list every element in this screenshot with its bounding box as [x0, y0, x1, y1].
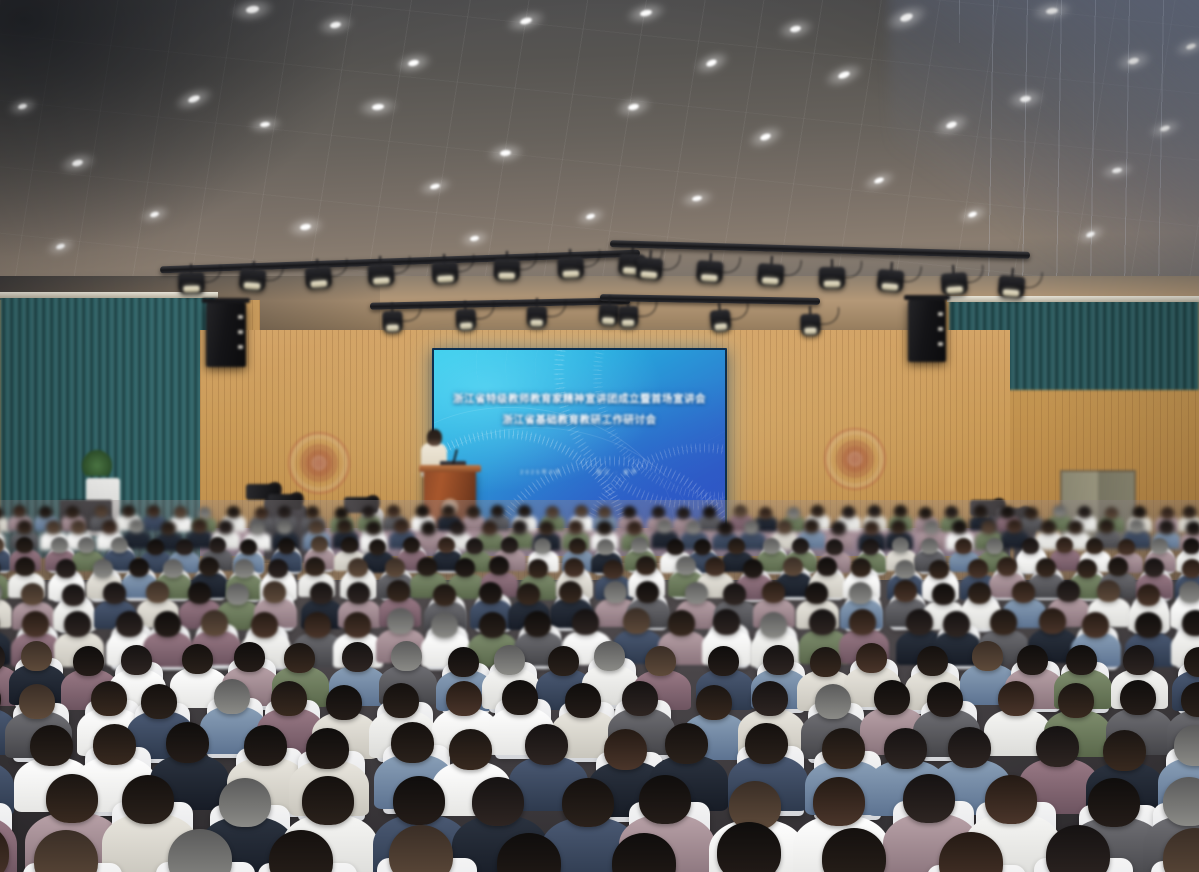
audience-head	[528, 559, 548, 578]
audience-head	[1129, 519, 1144, 533]
audience-head	[694, 539, 711, 555]
audience-head	[631, 537, 648, 553]
audience-head	[64, 611, 91, 637]
audience-head	[668, 610, 695, 636]
audience-head	[129, 558, 149, 577]
audience-head	[146, 581, 169, 603]
audience-head	[416, 505, 429, 517]
audience-head	[894, 580, 917, 602]
audience-head	[718, 521, 733, 535]
audience-head	[154, 611, 181, 637]
audience-head	[598, 506, 611, 518]
audience-head	[391, 722, 434, 763]
audience-head	[622, 681, 658, 716]
pa-led	[238, 315, 243, 319]
ceiling-downlight	[967, 211, 977, 219]
spotlight-lens	[437, 275, 453, 282]
audience-head	[467, 506, 480, 518]
audience-head	[1053, 505, 1066, 517]
audience-head	[981, 520, 996, 534]
conference-hall-photo: 浙江省特级教师教育家精神宣讲团成立暨首场宣讲会 浙江省基础教育教研工作研讨会 2…	[0, 0, 1199, 872]
audience-head	[16, 537, 33, 553]
audience-head	[182, 644, 213, 674]
ceiling-downlight	[692, 195, 703, 202]
audience-head	[903, 774, 955, 823]
ceiling-downlight	[1085, 230, 1095, 238]
audience-head	[924, 520, 939, 534]
audience-head	[448, 647, 479, 677]
audience-head	[1058, 683, 1094, 718]
spotlight-lens	[804, 328, 817, 334]
spotlight-lens	[183, 286, 199, 292]
audience-head	[997, 557, 1017, 576]
audience-head	[1017, 645, 1048, 675]
wall-emblem-left-icon	[288, 432, 350, 494]
spotlight-lens	[824, 281, 840, 287]
audience-head	[891, 520, 906, 534]
audience-head	[1161, 507, 1174, 519]
audience-head	[442, 505, 455, 517]
audience-head	[302, 776, 354, 825]
audience-head	[188, 582, 211, 604]
pa-speaker-right	[908, 300, 946, 362]
audience-head	[906, 609, 933, 635]
audience-head	[884, 728, 927, 769]
audience-head	[1137, 584, 1160, 606]
audience-head	[278, 538, 295, 554]
audience-head	[1022, 538, 1039, 554]
audience-head	[449, 729, 492, 770]
audience-head	[1108, 557, 1128, 576]
audience-head	[455, 558, 475, 577]
ceiling-downlight	[945, 120, 957, 130]
audience-head	[603, 560, 623, 579]
pa-led	[938, 312, 943, 316]
audience-head	[1183, 506, 1196, 518]
audience-head	[450, 521, 465, 535]
audience-head	[1088, 778, 1140, 827]
audience-head	[46, 520, 61, 534]
audience-head	[102, 520, 117, 534]
audience-head	[209, 537, 226, 553]
audience-head	[985, 775, 1037, 824]
audience-head	[1144, 558, 1164, 577]
audience-head	[1036, 726, 1079, 767]
audience-head	[310, 582, 333, 604]
audience-head	[1135, 612, 1162, 638]
audience-head	[394, 519, 409, 533]
audience-head	[826, 539, 843, 555]
audience-head	[116, 611, 143, 637]
audience-head	[717, 822, 781, 872]
audience-head	[161, 521, 176, 535]
audience-head	[198, 507, 211, 519]
spotlight-lens	[386, 325, 399, 331]
screen-footer-date: 2025年8月	[520, 470, 562, 476]
audience-head	[1077, 559, 1097, 578]
spotlight-lens	[882, 283, 899, 290]
pa-led	[238, 330, 243, 334]
audience-head	[517, 583, 540, 605]
audience-head	[728, 538, 745, 554]
audience-head	[141, 684, 177, 719]
audience-head	[446, 681, 482, 716]
audience-head	[677, 507, 690, 519]
audience-head	[760, 612, 787, 638]
audience-head	[362, 506, 375, 518]
audience-head	[1086, 538, 1103, 554]
audience-head	[623, 506, 636, 518]
audience-head	[945, 506, 958, 518]
audience-head	[723, 583, 746, 605]
ceiling-downlight	[639, 9, 652, 18]
audience-head	[326, 685, 362, 720]
screen-title-line-2: 浙江省基础教育教研工作研讨会	[434, 412, 725, 427]
audience-head	[1183, 538, 1199, 554]
audience-head	[337, 519, 352, 533]
audience-head	[214, 679, 250, 714]
audience-head	[30, 725, 73, 766]
audience-head	[306, 506, 319, 518]
audience-head	[73, 646, 104, 676]
audience-head	[856, 643, 887, 673]
audience-head	[271, 681, 307, 716]
ceiling-downlight	[245, 5, 259, 14]
audience-head	[539, 521, 554, 535]
audience-head	[810, 647, 841, 677]
audience-head	[525, 724, 568, 765]
ceiling-downlight	[430, 183, 441, 190]
audience-head	[685, 582, 708, 604]
spotlight-lens	[946, 286, 962, 293]
ceiling-downlight	[899, 12, 914, 23]
audience-head	[831, 521, 846, 535]
presenter-head	[427, 429, 442, 446]
audience-head	[932, 583, 955, 605]
audience-head	[1118, 539, 1135, 555]
audience-head	[842, 506, 855, 518]
spotlight-lens	[563, 270, 579, 277]
audience-head	[71, 520, 86, 534]
audience-head	[1025, 507, 1038, 519]
audience-head	[472, 777, 524, 826]
audience-head	[1182, 559, 1199, 578]
audience-head	[278, 506, 291, 518]
audience-head	[234, 642, 265, 672]
audience-head	[491, 505, 504, 517]
audience-head	[433, 584, 456, 606]
audience-head	[403, 537, 420, 553]
audience-head	[174, 506, 187, 518]
spotlight-lens	[531, 320, 543, 326]
audience-head	[572, 609, 599, 635]
ceiling-downlight	[329, 21, 341, 29]
audience-head	[39, 506, 52, 518]
ceiling-downlight	[585, 213, 595, 220]
audience-head	[815, 684, 851, 719]
audience-head	[1097, 580, 1120, 602]
audience-head	[559, 581, 582, 603]
ceiling-downlight	[1046, 7, 1059, 15]
audience-head	[943, 611, 970, 637]
audience-head	[93, 559, 113, 578]
audience-head	[13, 505, 26, 517]
audience-head	[103, 582, 126, 604]
audience-head	[1078, 506, 1091, 518]
audience-head	[366, 521, 381, 535]
ceiling-downlight	[759, 132, 771, 142]
audience-head	[972, 641, 1003, 671]
audience-head	[849, 582, 872, 604]
audience-head	[1103, 730, 1146, 771]
audience-head	[305, 557, 325, 576]
audience-head	[524, 611, 551, 637]
audience-head	[438, 537, 455, 553]
audience-head	[851, 558, 871, 577]
audience-head	[512, 520, 527, 534]
audience-head	[1068, 520, 1083, 534]
audience-head	[708, 646, 739, 676]
spotlight-lens	[701, 274, 717, 281]
audience-head	[466, 538, 483, 554]
ceiling-downlight	[470, 235, 480, 242]
audience-head	[777, 520, 792, 534]
audience-head	[17, 520, 32, 534]
ceiling-downlight	[1159, 125, 1170, 133]
audience-head	[1039, 608, 1066, 634]
audience-head	[676, 556, 696, 575]
ceiling-downlight	[627, 103, 639, 111]
ceiling-downlight	[55, 243, 65, 251]
audience-head	[745, 723, 788, 764]
audience-head	[990, 609, 1017, 635]
audience-head	[344, 612, 371, 638]
ceiling-downlight	[500, 149, 512, 156]
audience-head	[763, 645, 794, 675]
audience-head	[201, 610, 228, 636]
audience-head	[227, 506, 240, 518]
ceiling-downlight	[1185, 42, 1196, 50]
audience-head	[734, 505, 747, 517]
audience-head	[284, 643, 315, 673]
ceiling-downlight	[187, 94, 200, 104]
audience-head	[639, 775, 691, 824]
audience-head	[1174, 725, 1199, 766]
audience-head	[391, 641, 422, 671]
audience-head	[623, 608, 650, 634]
audience-head	[752, 681, 788, 716]
ceiling-downlight	[300, 223, 312, 231]
audience-head	[1066, 645, 1097, 675]
spotlight-lens	[622, 320, 634, 326]
audience-head	[78, 537, 95, 553]
audience-head	[604, 581, 627, 603]
audience-head	[667, 539, 684, 555]
audience-head	[927, 682, 963, 717]
ceiling-downlight	[873, 176, 884, 184]
spotlight-lens	[244, 283, 261, 290]
audience-head	[895, 560, 915, 579]
audience-head	[518, 505, 531, 517]
audience-head	[597, 521, 612, 535]
audience-head	[705, 557, 725, 576]
audience-head	[1123, 645, 1154, 675]
audience-head	[998, 681, 1034, 716]
ceiling-downlight	[789, 25, 801, 33]
audience-head	[1057, 580, 1080, 602]
wall-emblem-right-icon	[824, 428, 886, 490]
audience-head	[1120, 680, 1156, 715]
audience-head	[1041, 520, 1056, 534]
audience-head	[594, 641, 625, 671]
audience-head	[387, 505, 400, 517]
audience-head	[489, 556, 509, 575]
audience-head	[46, 774, 98, 823]
audience-head	[986, 538, 1003, 554]
audience-head	[479, 612, 506, 638]
audience-head	[218, 520, 233, 534]
audience-head	[817, 557, 837, 576]
audience-head	[805, 582, 828, 604]
audience-head	[1012, 581, 1035, 603]
audience-head	[417, 557, 437, 576]
audience-head	[335, 507, 348, 519]
audience-head	[804, 519, 819, 533]
audience-head	[111, 537, 128, 553]
audience-head	[1179, 581, 1199, 603]
audience-head	[864, 521, 879, 535]
audience-head	[501, 537, 518, 553]
ceiling-downlight	[705, 58, 717, 68]
audience-head	[121, 645, 152, 675]
audience-head	[713, 609, 740, 635]
audience-head	[250, 521, 265, 535]
audience-head	[636, 581, 659, 603]
audience-head	[479, 582, 502, 604]
audience-head	[1007, 519, 1022, 533]
ceiling-downlight	[1020, 95, 1032, 103]
spotlight-lens	[460, 322, 473, 329]
audience-head	[15, 557, 35, 576]
audience-head	[665, 723, 708, 764]
audience-head	[1159, 520, 1174, 534]
ceiling-downlight	[407, 59, 419, 67]
audience-head	[929, 560, 949, 579]
audience-head	[743, 559, 763, 578]
audience-head	[809, 609, 836, 635]
audience-head	[564, 558, 584, 577]
spotlight-lens	[602, 318, 615, 325]
audience-head	[917, 646, 948, 676]
seated-audience	[0, 500, 1199, 872]
spotlight-lens	[715, 323, 728, 330]
audience-head	[255, 507, 268, 519]
audience-head	[342, 642, 373, 672]
spotlight-lens	[762, 277, 778, 284]
spotlight-lens	[1003, 289, 1020, 296]
audience-head	[813, 777, 865, 826]
audience-head	[251, 612, 278, 638]
audience-head	[562, 778, 614, 827]
audience-head	[348, 558, 368, 577]
audience-head	[763, 538, 780, 554]
audience-head	[93, 724, 136, 765]
audience-head	[1099, 519, 1114, 533]
audience-head	[787, 507, 800, 519]
audience-head	[604, 729, 647, 770]
audience-head	[627, 521, 642, 535]
audience-head	[892, 537, 909, 553]
audience-head	[176, 539, 193, 555]
audience-head	[306, 728, 349, 769]
audience-head	[147, 505, 160, 517]
audience-head	[565, 683, 601, 718]
audience-head	[309, 520, 324, 534]
audience-head	[387, 580, 410, 602]
ceiling-downlight	[1112, 167, 1123, 174]
audience-head	[1151, 538, 1168, 554]
ceiling-downlight	[519, 16, 532, 25]
audience-head	[534, 538, 551, 554]
audience-head	[369, 539, 386, 555]
audience-head	[1036, 558, 1056, 577]
audience-head	[822, 728, 865, 769]
pa-speaker-left	[206, 303, 246, 367]
podium-top-surface	[419, 465, 481, 472]
audience-head	[849, 609, 876, 635]
audience-head	[948, 727, 991, 768]
screen-title-line-1: 浙江省特级教师教育家精神宣讲团成立暨首场宣讲会	[434, 391, 725, 406]
ceiling-downlight	[71, 159, 83, 168]
audience-head	[19, 684, 55, 719]
audience-head	[1186, 521, 1199, 535]
pa-speaker-right-bracket	[904, 295, 950, 300]
ceiling-downlight	[837, 70, 850, 80]
right-curtain-rail	[947, 296, 1199, 302]
audience-head	[783, 557, 803, 576]
audience-head	[268, 559, 288, 578]
ceiling-downlight	[18, 103, 28, 110]
audience-head	[482, 521, 497, 535]
audience-head	[1082, 612, 1109, 638]
audience-head	[347, 582, 370, 604]
audience-head	[22, 611, 49, 637]
audience-head	[762, 581, 785, 603]
audience-head	[62, 584, 85, 606]
audience-head	[385, 558, 405, 577]
audience-head	[166, 722, 209, 763]
audience-head	[792, 538, 809, 554]
audience-head	[636, 556, 656, 575]
audience-head	[974, 505, 987, 517]
audience-head	[919, 507, 932, 519]
pa-led	[938, 327, 943, 331]
spotlight-lens	[374, 278, 390, 285]
audience-head	[568, 520, 583, 534]
screen-footer-location: 浙江 · 金华	[596, 470, 639, 476]
audience-head	[421, 521, 436, 535]
spotlight-lens	[498, 273, 514, 279]
audience-head	[219, 778, 271, 827]
potted-plant	[82, 450, 112, 476]
audience-head	[240, 539, 257, 555]
ceiling-downlight	[149, 211, 159, 218]
audience-head	[122, 505, 135, 517]
audience-head	[952, 520, 967, 534]
audience-head	[874, 680, 910, 715]
ceiling-downlight	[1127, 57, 1139, 66]
audience-head	[645, 646, 676, 676]
